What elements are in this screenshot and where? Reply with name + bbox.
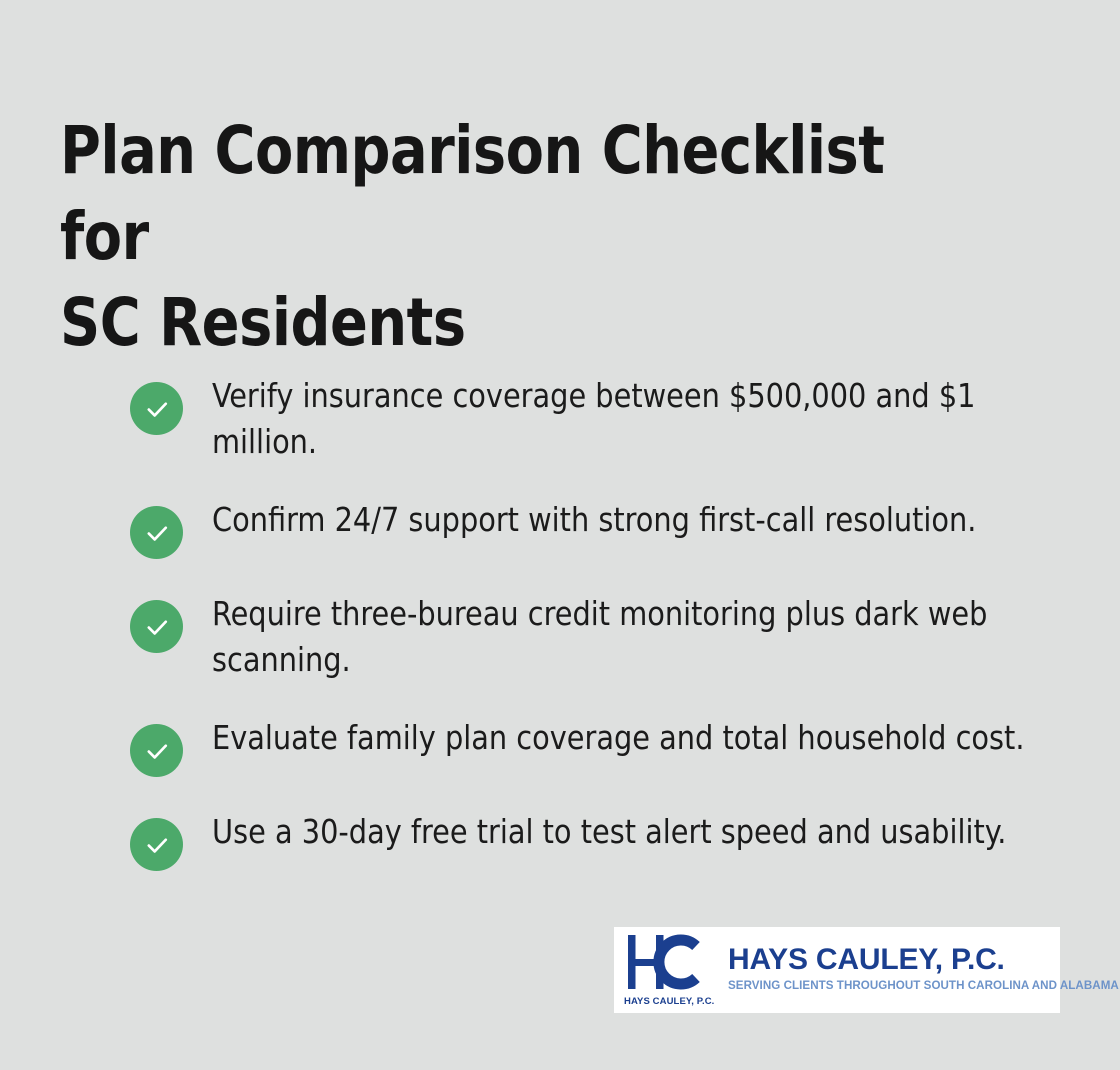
infographic-canvas: Plan Comparison Checklist for SC Residen…: [0, 0, 1120, 1070]
list-item: Require three-bureau credit monitoring p…: [130, 587, 1060, 683]
list-item-label: Use a 30-day free trial to test alert sp…: [212, 805, 1035, 855]
check-circle-icon: [130, 382, 183, 435]
hc-monogram-icon: HAYS CAULEY, P.C.: [622, 931, 726, 1009]
list-item: Evaluate family plan coverage and total …: [130, 711, 1060, 777]
check-circle-icon: [130, 724, 183, 777]
list-item-label: Verify insurance coverage between $500,0…: [212, 369, 1035, 465]
logo-tagline: SERVING CLIENTS THROUGHOUT SOUTH CAROLIN…: [728, 978, 1119, 993]
logo-wordmark: HAYS CAULEY, P.C. SERVING CLIENTS THROUG…: [728, 943, 1119, 997]
list-item-label: Require three-bureau credit monitoring p…: [212, 587, 1035, 683]
list-item-label: Confirm 24/7 support with strong first-c…: [212, 493, 1035, 543]
check-circle-icon: [130, 818, 183, 871]
logo-firm-name: HAYS CAULEY, P.C.: [728, 943, 1119, 977]
checklist: Verify insurance coverage between $500,0…: [130, 369, 1060, 871]
monogram-caption: HAYS CAULEY, P.C.: [624, 996, 714, 1007]
firm-logo: HAYS CAULEY, P.C. HAYS CAULEY, P.C. SERV…: [614, 927, 1060, 1013]
check-circle-icon: [130, 506, 183, 559]
list-item: Use a 30-day free trial to test alert sp…: [130, 805, 1060, 871]
page-title: Plan Comparison Checklist for SC Residen…: [60, 108, 991, 366]
list-item-label: Evaluate family plan coverage and total …: [212, 711, 1035, 761]
list-item: Verify insurance coverage between $500,0…: [130, 369, 1060, 465]
check-circle-icon: [130, 600, 183, 653]
list-item: Confirm 24/7 support with strong first-c…: [130, 493, 1060, 559]
